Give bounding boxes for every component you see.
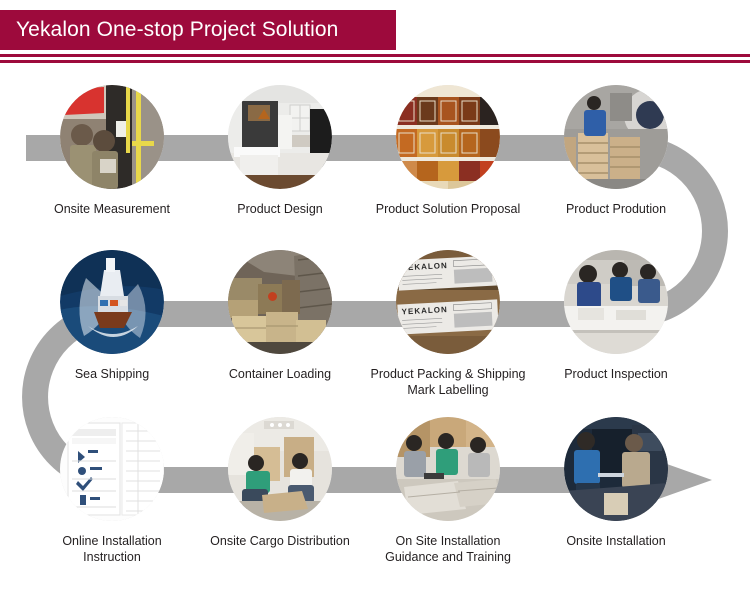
step-label: Product Inspection [530, 366, 702, 382]
step-label-line-2: Instruction [83, 550, 141, 564]
header-rule-top [0, 54, 750, 57]
step-image-sea-shipping [60, 250, 164, 354]
step-label-line-1: Online Installation [62, 534, 161, 548]
step-product-design[interactable]: Product Design [196, 85, 364, 217]
step-product-inspection[interactable]: Product Inspection [532, 250, 700, 398]
step-image-product-packing-shipping-mark-labelling: YEKALON YEKALON [396, 250, 500, 354]
step-on-site-installation-guidance-and-training[interactable]: On Site Installation Guidance and Traini… [364, 417, 532, 565]
step-image-onsite-measurement [60, 85, 164, 189]
step-onsite-installation[interactable]: Onsite Installation [532, 417, 700, 565]
step-image-product-design [228, 85, 332, 189]
infographic-page: Yekalon One-stop Project Solution [0, 0, 750, 589]
step-label: Product Solution Proposal [362, 201, 534, 217]
header-rule-bottom [0, 60, 750, 63]
step-image-on-site-installation-guidance-and-training [396, 417, 500, 521]
step-label-line-2: Guidance and Training [385, 550, 511, 564]
step-image-online-installation-instruction [60, 417, 164, 521]
step-image-onsite-installation [564, 417, 668, 521]
step-image-product-inspection [564, 250, 668, 354]
page-title: Yekalon One-stop Project Solution [0, 18, 338, 42]
header-banner: Yekalon One-stop Project Solution [0, 10, 396, 50]
step-image-onsite-cargo-distribution [228, 417, 332, 521]
step-image-product-solution-proposal [396, 85, 500, 189]
step-label: Product Design [194, 201, 366, 217]
step-sea-shipping[interactable]: Sea Shipping [28, 250, 196, 398]
step-onsite-cargo-distribution[interactable]: Onsite Cargo Distribution [196, 417, 364, 565]
step-onsite-measurement[interactable]: Onsite Measurement [28, 85, 196, 217]
step-image-container-loading [228, 250, 332, 354]
step-container-loading[interactable]: Container Loading [196, 250, 364, 398]
process-row-3: Online Installation Instruction [0, 417, 750, 565]
step-label: Sea Shipping [26, 366, 198, 382]
step-label: Product Packing & Shipping Mark Labellin… [362, 366, 534, 398]
step-label: Product Prodution [530, 201, 702, 217]
step-product-prodution[interactable]: Product Prodution [532, 85, 700, 217]
step-label-line-2: Mark Labelling [407, 383, 488, 397]
process-row-2: Sea Shipping [0, 250, 750, 398]
step-label-line-1: On Site Installation [396, 534, 501, 548]
step-label: Onsite Cargo Distribution [194, 533, 366, 549]
step-label-line-1: Product Packing & Shipping [371, 367, 526, 381]
process-row-1: Onsite Measurement [0, 85, 750, 217]
step-label: Online Installation Instruction [26, 533, 198, 565]
step-label: On Site Installation Guidance and Traini… [362, 533, 534, 565]
step-label: Container Loading [194, 366, 366, 382]
step-image-product-prodution [564, 85, 668, 189]
step-product-packing-shipping-mark-labelling[interactable]: YEKALON YEKALON [364, 250, 532, 398]
step-label: Onsite Measurement [26, 201, 198, 217]
step-online-installation-instruction[interactable]: Online Installation Instruction [28, 417, 196, 565]
step-label: Onsite Installation [530, 533, 702, 549]
step-product-solution-proposal[interactable]: Product Solution Proposal [364, 85, 532, 217]
